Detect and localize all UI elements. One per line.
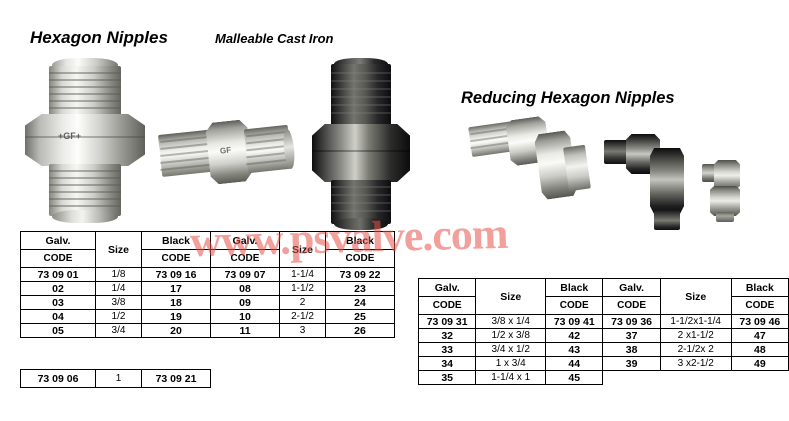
cell-black-code-2: 23 [326, 282, 395, 296]
cell-galv-code: 73 09 31 [419, 315, 476, 329]
cell-black-code-2: 47 [731, 329, 788, 343]
cell-galv-code-2: 09 [211, 296, 280, 310]
header-black: Black [546, 279, 603, 297]
cell-black-code-2: 49 [731, 357, 788, 371]
header-code-2: CODE [546, 297, 603, 315]
cell-galv-code: 02 [21, 282, 96, 296]
table-row: 73 09 01 1/8 73 09 16 73 09 07 1-1/4 73 … [21, 268, 395, 282]
cell-black-code-2-empty [731, 371, 788, 385]
cell-size: 1 x 3/4 [476, 357, 546, 371]
page-title-hexagon-nipples: Hexagon Nipples [30, 28, 168, 48]
cell-black-code: 73 09 16 [142, 268, 211, 282]
cell-black-code: 17 [142, 282, 211, 296]
cell-size: 3/4 [96, 324, 142, 338]
cell-black-code: 44 [546, 357, 603, 371]
table-row: 73 09 31 3/8 x 1/4 73 09 41 73 09 36 1-1… [419, 315, 789, 329]
cell-size-2: 1-1/2 [280, 282, 326, 296]
table-row: 04 1/2 19 10 2-1/2 25 [21, 310, 395, 324]
header-size: Size [96, 232, 142, 268]
table-row: 35 1-1/4 x 1 45 [419, 371, 789, 385]
cell-size: 1-1/4 x 1 [476, 371, 546, 385]
header-galv: Galv. [21, 232, 96, 250]
header-black-2: Black [731, 279, 788, 297]
header-code-3: CODE [603, 297, 660, 315]
cell-black-code: 73 09 41 [546, 315, 603, 329]
header-code-4: CODE [731, 297, 788, 315]
image-reducing-hexagon-nipple-small [700, 160, 750, 222]
table-reducing-hexagon-nipples: Galv. Size Black Galv. Size Black CODE C… [418, 278, 789, 385]
cell-black-code: 18 [142, 296, 211, 310]
header-code-4: CODE [326, 250, 395, 268]
cell-galv-code-2: 37 [603, 329, 660, 343]
table-row-header-1: Galv. Size Black Galv. Size Black [21, 232, 395, 250]
header-galv-2: Galv. [211, 232, 280, 250]
cell-size: 1 [96, 370, 142, 388]
cell-size: 3/4 x 1/2 [476, 343, 546, 357]
header-code-1: CODE [21, 250, 96, 268]
cell-galv-code: 73 09 06 [21, 370, 96, 388]
table-row: 03 3/8 18 09 2 24 [21, 296, 395, 310]
cell-galv-code: 03 [21, 296, 96, 310]
cell-size-2: 3 [280, 324, 326, 338]
cell-galv-code-2-empty [603, 371, 660, 385]
table-hexagon-nipples-last-row: 73 09 06 1 73 09 21 [20, 369, 211, 388]
cell-galv-code-2: 11 [211, 324, 280, 338]
image-reducing-hexagon-nipple-galvanized [470, 110, 588, 228]
header-code-2: CODE [142, 250, 211, 268]
cell-size: 3/8 x 1/4 [476, 315, 546, 329]
cell-galv-code-2: 38 [603, 343, 660, 357]
cell-black-code: 45 [546, 371, 603, 385]
table-row: 32 1/2 x 3/8 42 37 2 x1-1/2 47 [419, 329, 789, 343]
header-black: Black [142, 232, 211, 250]
cell-black-code: 19 [142, 310, 211, 324]
cell-black-code: 73 09 21 [142, 370, 211, 388]
table-row-header-2: CODE CODE CODE CODE [21, 250, 395, 268]
image-galvanized-hexagon-nipple-medium: GF [160, 105, 290, 197]
cell-black-code-2: 73 09 46 [731, 315, 788, 329]
header-black-2: Black [326, 232, 395, 250]
cell-black-code-2: 26 [326, 324, 395, 338]
cell-size: 1/4 [96, 282, 142, 296]
header-code-1: CODE [419, 297, 476, 315]
header-code-3: CODE [211, 250, 280, 268]
header-size-2: Size [280, 232, 326, 268]
cell-galv-code: 32 [419, 329, 476, 343]
cell-galv-code-2: 73 09 07 [211, 268, 280, 282]
table-row: 73 09 06 1 73 09 21 [21, 370, 211, 388]
cell-size: 3/8 [96, 296, 142, 310]
cell-galv-code: 34 [419, 357, 476, 371]
cell-black-code-2: 25 [326, 310, 395, 324]
cell-black-code: 20 [142, 324, 211, 338]
cell-black-code-2: 24 [326, 296, 395, 310]
cell-size-2: 2 [280, 296, 326, 310]
table-row: 33 3/4 x 1/2 43 38 2-1/2x 2 48 [419, 343, 789, 357]
cell-galv-code: 05 [21, 324, 96, 338]
table-hexagon-nipples: Galv. Size Black Galv. Size Black CODE C… [20, 231, 395, 338]
cell-size-2: 2-1/2x 2 [660, 343, 731, 357]
section-title-reducing-hexagon-nipples: Reducing Hexagon Nipples [461, 89, 675, 108]
image-reducing-hexagon-nipple-black [604, 134, 686, 230]
table-row: 02 1/4 17 08 1-1/2 23 [21, 282, 395, 296]
table-row-header-1: Galv. Size Black Galv. Size Black [419, 279, 789, 297]
subtitle-material: Malleable Cast Iron [215, 31, 333, 46]
table-row: 05 3/4 20 11 3 26 [21, 324, 395, 338]
cell-galv-code-2: 08 [211, 282, 280, 296]
cell-size: 1/2 [96, 310, 142, 324]
cell-galv-code-2: 10 [211, 310, 280, 324]
cell-black-code-2: 73 09 22 [326, 268, 395, 282]
cell-galv-code: 33 [419, 343, 476, 357]
header-size: Size [476, 279, 546, 315]
table-row-header-2: CODE CODE CODE CODE [419, 297, 789, 315]
image-black-hexagon-nipple-large [312, 58, 412, 230]
cell-size-2-empty [660, 371, 731, 385]
catalog-page: Hexagon Nipples Malleable Cast Iron Redu… [0, 0, 789, 421]
brand-mark-gf: +GF+ [58, 131, 81, 141]
cell-galv-code: 04 [21, 310, 96, 324]
cell-size-2: 1-1/2x1-1/4 [660, 315, 731, 329]
cell-size: 1/2 x 3/8 [476, 329, 546, 343]
header-size-2: Size [660, 279, 731, 315]
table-row: 34 1 x 3/4 44 39 3 x2-1/2 49 [419, 357, 789, 371]
header-galv: Galv. [419, 279, 476, 297]
cell-size-2: 1-1/4 [280, 268, 326, 282]
image-galvanized-hexagon-nipple-large: +GF+ [22, 58, 148, 223]
header-galv-2: Galv. [603, 279, 660, 297]
cell-galv-code-2: 73 09 36 [603, 315, 660, 329]
cell-black-code: 42 [546, 329, 603, 343]
cell-size-2: 2 x1-1/2 [660, 329, 731, 343]
cell-galv-code-2: 39 [603, 357, 660, 371]
cell-size-2: 2-1/2 [280, 310, 326, 324]
cell-black-code-2: 48 [731, 343, 788, 357]
cell-size: 1/8 [96, 268, 142, 282]
brand-mark-gf-medium: GF [220, 145, 232, 155]
cell-black-code: 43 [546, 343, 603, 357]
cell-galv-code: 73 09 01 [21, 268, 96, 282]
cell-size-2: 3 x2-1/2 [660, 357, 731, 371]
cell-galv-code: 35 [419, 371, 476, 385]
